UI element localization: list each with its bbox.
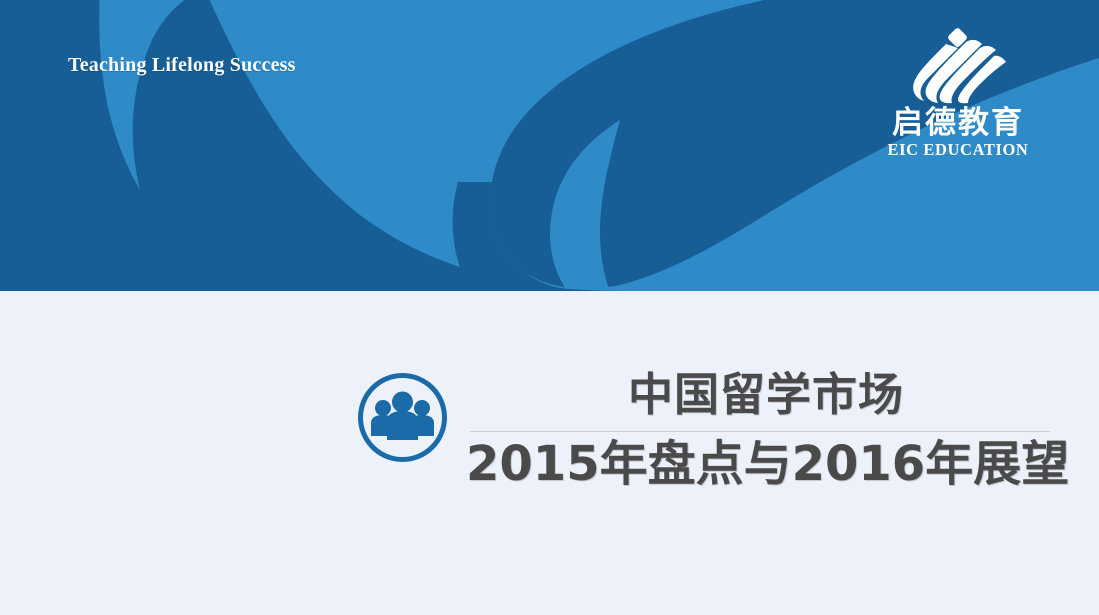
title-line-2: 2015年盘点与2016年展望: [466, 434, 1066, 494]
title-text-group: 中国留学市场 2015年盘点与2016年展望: [466, 367, 1066, 494]
slide-title-block: 中国留学市场 2015年盘点与2016年展望: [0, 291, 1099, 615]
logo-name-english: EIC EDUCATION: [878, 141, 1038, 159]
logo-name-chinese: 启德教育: [878, 106, 1038, 140]
presentation-slide: Teaching Lifelong Success 启德教育 EIC EDUCA: [0, 0, 1099, 615]
title-divider-rule: [470, 431, 1050, 432]
eic-flame-mark-icon: [906, 28, 1010, 104]
brand-tagline: Teaching Lifelong Success: [68, 54, 296, 77]
slide-banner: Teaching Lifelong Success 启德教育 EIC EDUCA: [0, 0, 1099, 291]
group-people-icon: [357, 372, 448, 463]
title-line-1: 中国留学市场: [466, 367, 1066, 423]
eic-logo: 启德教育 EIC EDUCATION: [878, 28, 1038, 168]
